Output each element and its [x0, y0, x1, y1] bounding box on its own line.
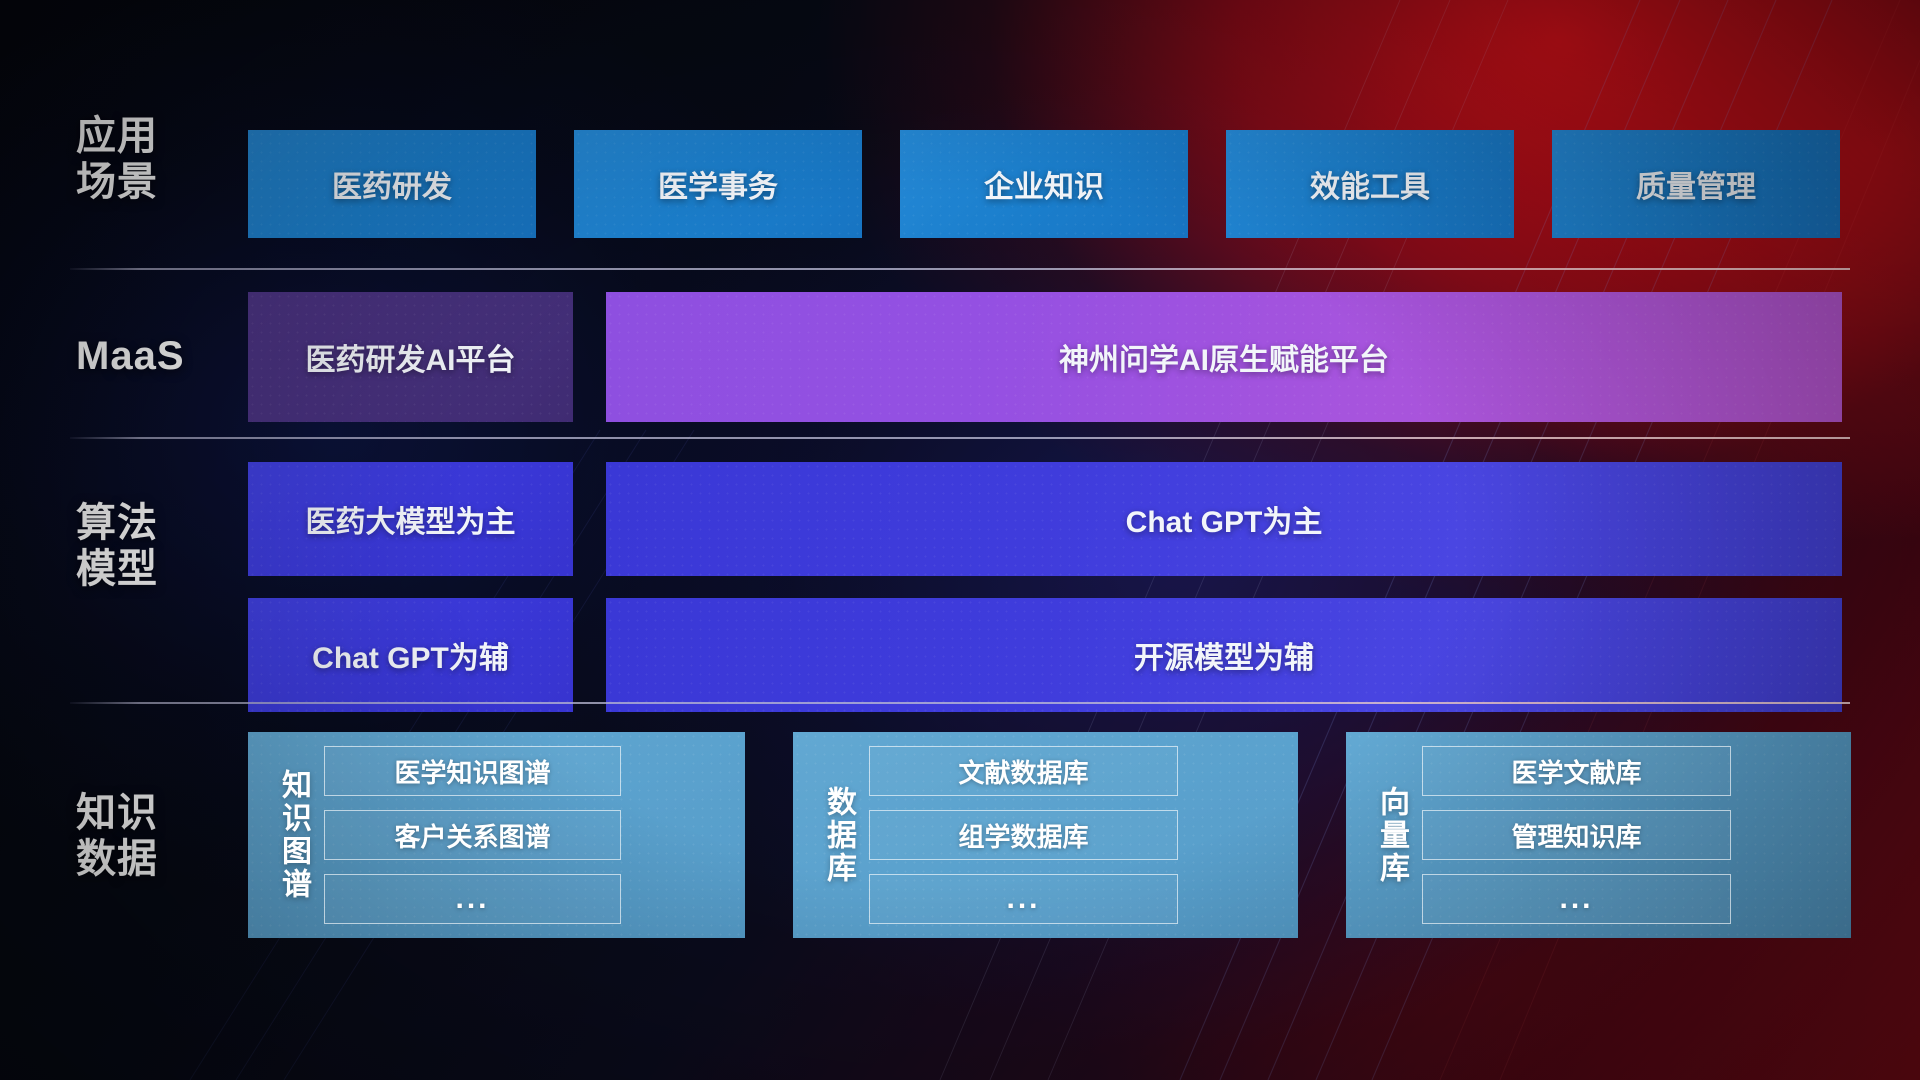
row-label-line-2: 场景	[76, 159, 226, 205]
algo-box-pharma-large-model-primary[interactable]: 医药大模型为主	[248, 462, 573, 576]
knowledge-item-literature-database[interactable]: 文献数据库	[869, 746, 1178, 796]
knowledge-item-more-3[interactable]: ...	[1422, 874, 1731, 924]
knowledge-group-title-database: 数据库	[807, 746, 869, 924]
algo-box-chatgpt-secondary[interactable]: Chat GPT为辅	[248, 598, 573, 712]
maas-box-shenzhou-wenxue-platform[interactable]: 神州问学AI原生赋能平台	[606, 292, 1842, 422]
knowledge-item-list: 医学文献库 管理知识库 ...	[1422, 746, 1731, 924]
app-box-enterprise-knowledge[interactable]: 企业知识	[900, 130, 1188, 238]
divider-algo-knowledge	[70, 702, 1850, 704]
app-box-drug-rd[interactable]: 医药研发	[248, 130, 536, 238]
algo-row-secondary: Chat GPT为辅 开源模型为辅	[248, 598, 1842, 712]
knowledge-item-list: 医学知识图谱 客户关系图谱 ...	[324, 746, 621, 924]
knowledge-group-title-knowledge-graph: 知识图谱	[262, 746, 324, 924]
maas-box-drug-rd-ai-platform[interactable]: 医药研发AI平台	[248, 292, 573, 422]
algo-box-opensource-secondary[interactable]: 开源模型为辅	[606, 598, 1842, 712]
app-box-efficiency-tools[interactable]: 效能工具	[1226, 130, 1514, 238]
knowledge-item-medical-literature-library[interactable]: 医学文献库	[1422, 746, 1731, 796]
layer-knowledge-data: 知识图谱 医学知识图谱 客户关系图谱 ... 数据库 文献数据库 组学数据库 .…	[248, 732, 1851, 938]
divider-apps-maas	[70, 268, 1850, 270]
knowledge-item-more-1[interactable]: ...	[324, 874, 621, 924]
app-box-medical-affairs[interactable]: 医学事务	[574, 130, 862, 238]
layer-application-scenarios: 医药研发 医学事务 企业知识 效能工具 质量管理	[248, 130, 1840, 238]
knowledge-group-database: 数据库 文献数据库 组学数据库 ...	[793, 732, 1298, 938]
knowledge-group-vector-database: 向量库 医学文献库 管理知识库 ...	[1346, 732, 1851, 938]
row-label-application-scenarios: 应用 场景	[76, 113, 226, 206]
row-label-knowledge-data: 知识 数据	[76, 790, 226, 883]
row-label-maas: MaaS	[76, 333, 226, 379]
divider-maas-algo	[70, 437, 1850, 439]
layer-algorithm-models: 医药大模型为主 Chat GPT为主 Chat GPT为辅 开源模型为辅	[248, 462, 1842, 712]
algo-box-chatgpt-primary[interactable]: Chat GPT为主	[606, 462, 1842, 576]
knowledge-group-title-vector-database: 向量库	[1360, 746, 1422, 924]
knowledge-item-management-knowledge-base[interactable]: 管理知识库	[1422, 810, 1731, 860]
knowledge-item-medical-knowledge-graph[interactable]: 医学知识图谱	[324, 746, 621, 796]
layer-maas: 医药研发AI平台 神州问学AI原生赋能平台	[248, 292, 1842, 422]
row-label-line-2: 模型	[76, 546, 226, 592]
row-label-algorithm-models: 算法 模型	[76, 500, 226, 593]
knowledge-group-knowledge-graph: 知识图谱 医学知识图谱 客户关系图谱 ...	[248, 732, 745, 938]
row-label-line-1: 算法	[76, 500, 226, 546]
row-label-line-1: 应用	[76, 113, 226, 159]
knowledge-item-list: 文献数据库 组学数据库 ...	[869, 746, 1178, 924]
row-label-line-1: 知识	[76, 790, 226, 836]
knowledge-item-customer-relation-graph[interactable]: 客户关系图谱	[324, 810, 621, 860]
app-box-quality-management[interactable]: 质量管理	[1552, 130, 1840, 238]
row-label-line-2: 数据	[76, 836, 226, 882]
knowledge-item-more-2[interactable]: ...	[869, 874, 1178, 924]
architecture-diagram: 应用 场景 医药研发 医学事务 企业知识 效能工具 质量管理 MaaS 医药研发…	[0, 0, 1920, 1080]
algo-row-primary: 医药大模型为主 Chat GPT为主	[248, 462, 1842, 576]
knowledge-item-omics-database[interactable]: 组学数据库	[869, 810, 1178, 860]
